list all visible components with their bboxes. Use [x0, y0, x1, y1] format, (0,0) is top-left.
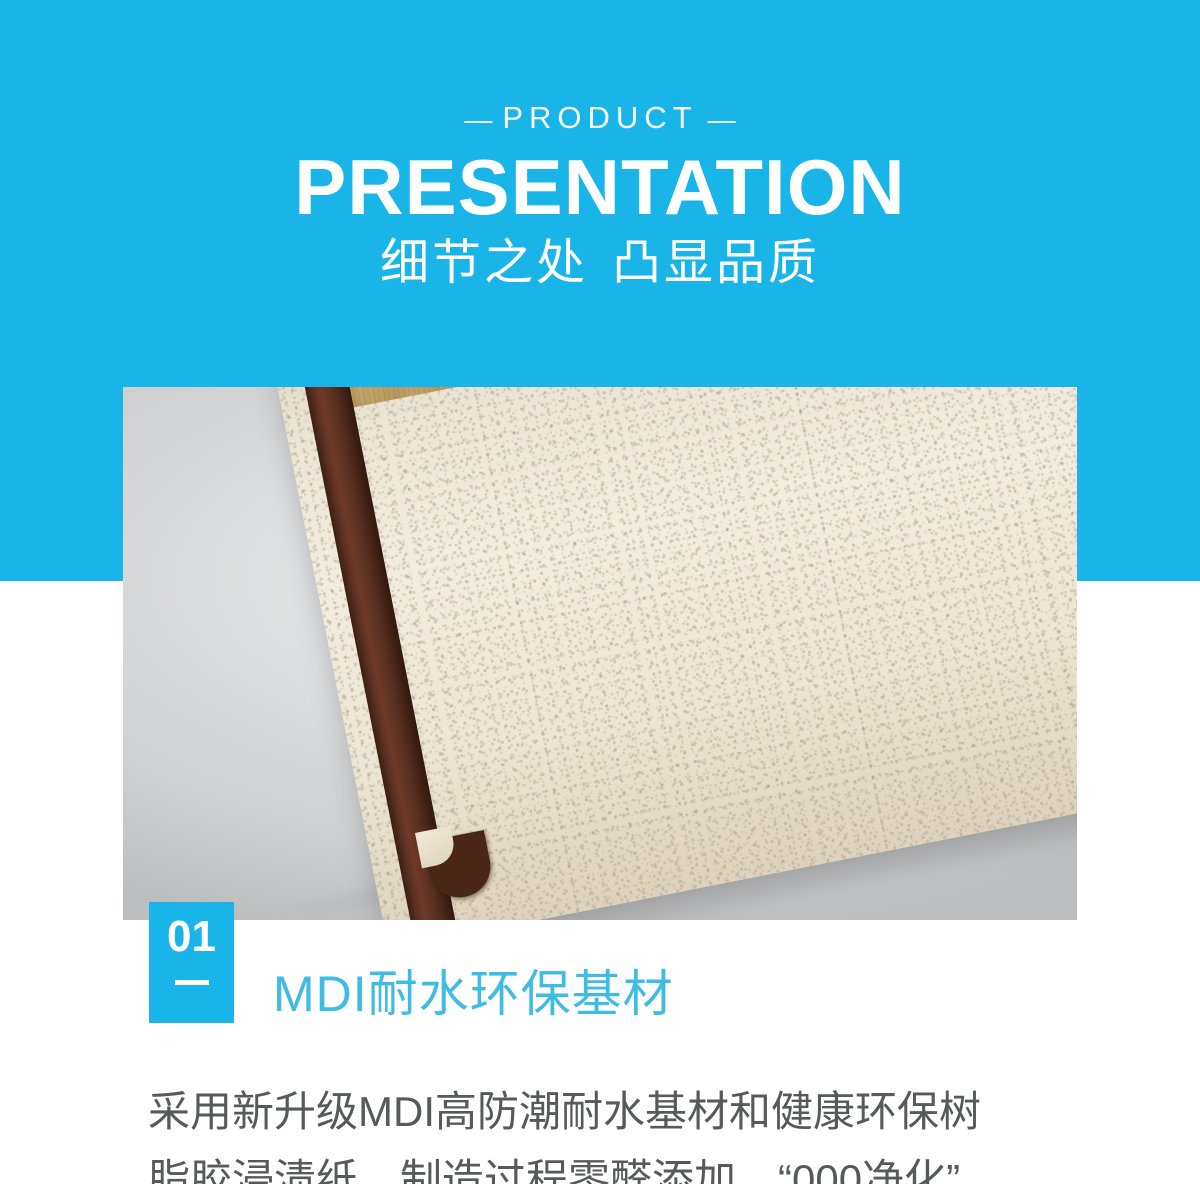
page-title: PRESENTATION: [0, 142, 1200, 232]
flooring-board-illustration: [123, 387, 1077, 920]
page-subtitle: 细节之处凸显品质: [0, 232, 1200, 294]
paragraph-line: 采用新升级MDI高防潮耐水基材和健康环保树: [148, 1078, 1078, 1146]
subtitle-part-left: 细节之处: [380, 236, 588, 290]
eyebrow-text: PRODUCT: [502, 100, 697, 135]
paragraph-line: 脂胶浸渍纸，制造过程零醛添加，“000净化”: [148, 1146, 1078, 1184]
eyebrow-dash-left-icon: —: [454, 100, 502, 140]
section-number-badge: 01: [149, 902, 234, 1023]
section-heading: MDI耐水环保基材: [273, 963, 674, 1025]
eyebrow-dash-right-icon: —: [698, 100, 746, 140]
subtitle-part-right: 凸显品质: [612, 236, 820, 290]
product-presentation-page: —PRODUCT— PRESENTATION 细节之处凸显品质 01 MDI耐水…: [0, 0, 1200, 1184]
hero-banner-content: —PRODUCT— PRESENTATION 细节之处凸显品质: [0, 0, 1200, 294]
eyebrow-label: —PRODUCT—: [0, 98, 1200, 140]
badge-underline-rule: [175, 980, 209, 985]
section-paragraph: 采用新升级MDI高防潮耐水基材和健康环保树 脂胶浸渍纸，制造过程零醛添加，“00…: [148, 1078, 1078, 1184]
product-photo: [123, 387, 1077, 920]
section-number: 01: [149, 912, 234, 962]
